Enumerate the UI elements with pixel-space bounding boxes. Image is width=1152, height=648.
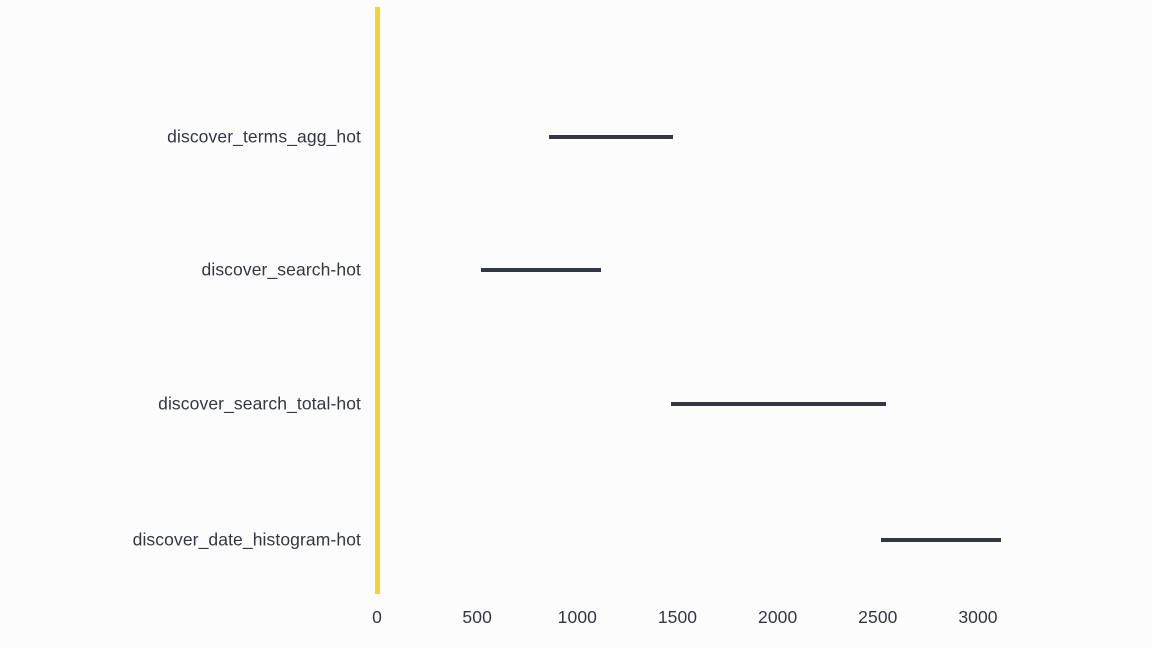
x-axis-tick-label: 2000	[758, 607, 797, 628]
range-bar[interactable]	[481, 268, 601, 272]
x-axis-tick-label: 2500	[858, 607, 897, 628]
range-bar-chart: discover_terms_agg_hot discover_search-h…	[0, 0, 1152, 648]
y-axis-tick-label: discover_search_total-hot	[158, 394, 361, 415]
range-bar[interactable]	[671, 402, 885, 406]
y-axis-tick-label: discover_date_histogram-hot	[133, 530, 361, 551]
y-axis-tick-label: discover_terms_agg_hot	[167, 127, 361, 148]
plot-area: discover_terms_agg_hot discover_search-h…	[0, 0, 1152, 648]
y-axis-tick-label: discover_search-hot	[202, 260, 361, 281]
x-axis-tick-label: 3000	[958, 607, 997, 628]
range-bar[interactable]	[881, 538, 1001, 542]
range-bar[interactable]	[549, 135, 673, 139]
x-axis: 0 500 1000 1500 2000 2500 3000	[0, 607, 1152, 637]
x-axis-tick-label: 1500	[658, 607, 697, 628]
x-axis-tick-label: 1000	[558, 607, 597, 628]
x-axis-tick-label: 500	[462, 607, 492, 628]
y-axis-line	[375, 7, 380, 594]
x-axis-tick-label: 0	[372, 607, 382, 628]
